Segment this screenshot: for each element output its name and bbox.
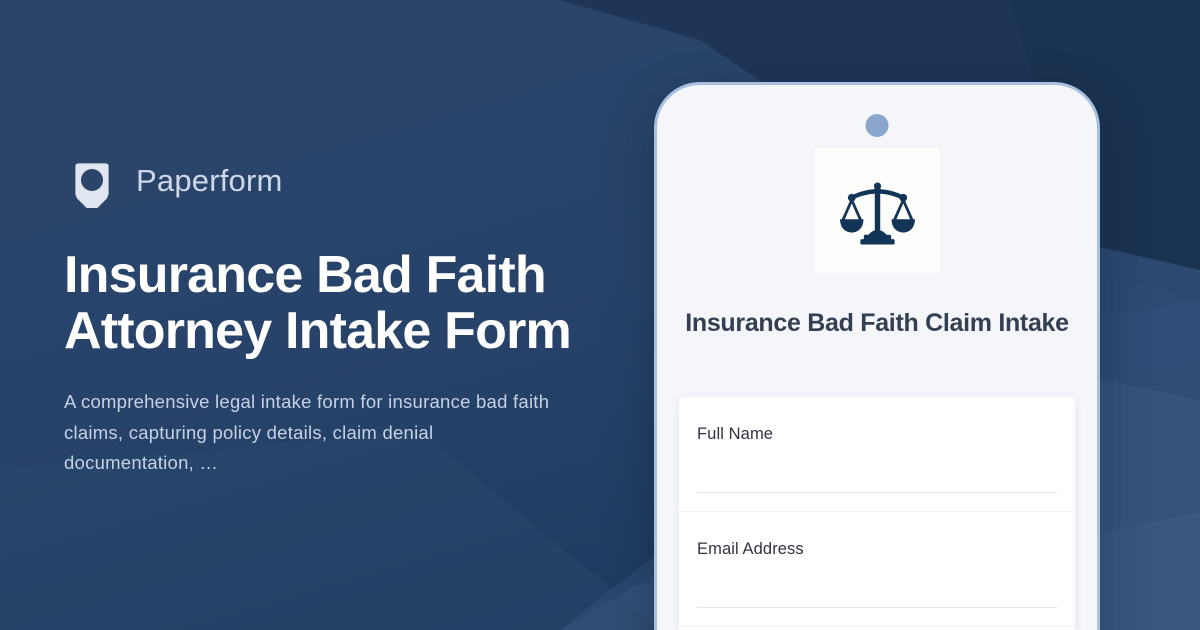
page-description: A comprehensive legal intake form for in…: [64, 387, 564, 477]
field-label: Email Address: [697, 540, 1057, 560]
form-card: Full Name Email Address: [679, 397, 1075, 630]
hero-column: Paperform Insurance Bad Faith Attorney I…: [64, 0, 624, 630]
phone-mockup: Insurance Bad Faith Claim Intake Full Na…: [654, 82, 1100, 630]
form-field-email-address[interactable]: Email Address: [679, 512, 1075, 627]
camera-dot-icon: [866, 114, 889, 137]
form-field-full-name[interactable]: Full Name: [679, 397, 1075, 512]
form-title: Insurance Bad Faith Claim Intake: [681, 307, 1073, 340]
brand-name: Paperform: [136, 165, 283, 196]
field-input-underline[interactable]: [697, 607, 1057, 608]
field-input-underline[interactable]: [697, 492, 1057, 493]
scales-of-justice-icon: [838, 172, 916, 250]
field-label: Full Name: [697, 425, 1057, 445]
promo-canvas: Paperform Insurance Bad Faith Attorney I…: [0, 0, 1200, 630]
page-title: Insurance Bad Faith Attorney Intake Form: [64, 248, 604, 359]
brand-lockup: Paperform: [64, 152, 624, 208]
form-logo-tile: [815, 148, 940, 273]
paperform-rosette-icon: [64, 152, 120, 208]
